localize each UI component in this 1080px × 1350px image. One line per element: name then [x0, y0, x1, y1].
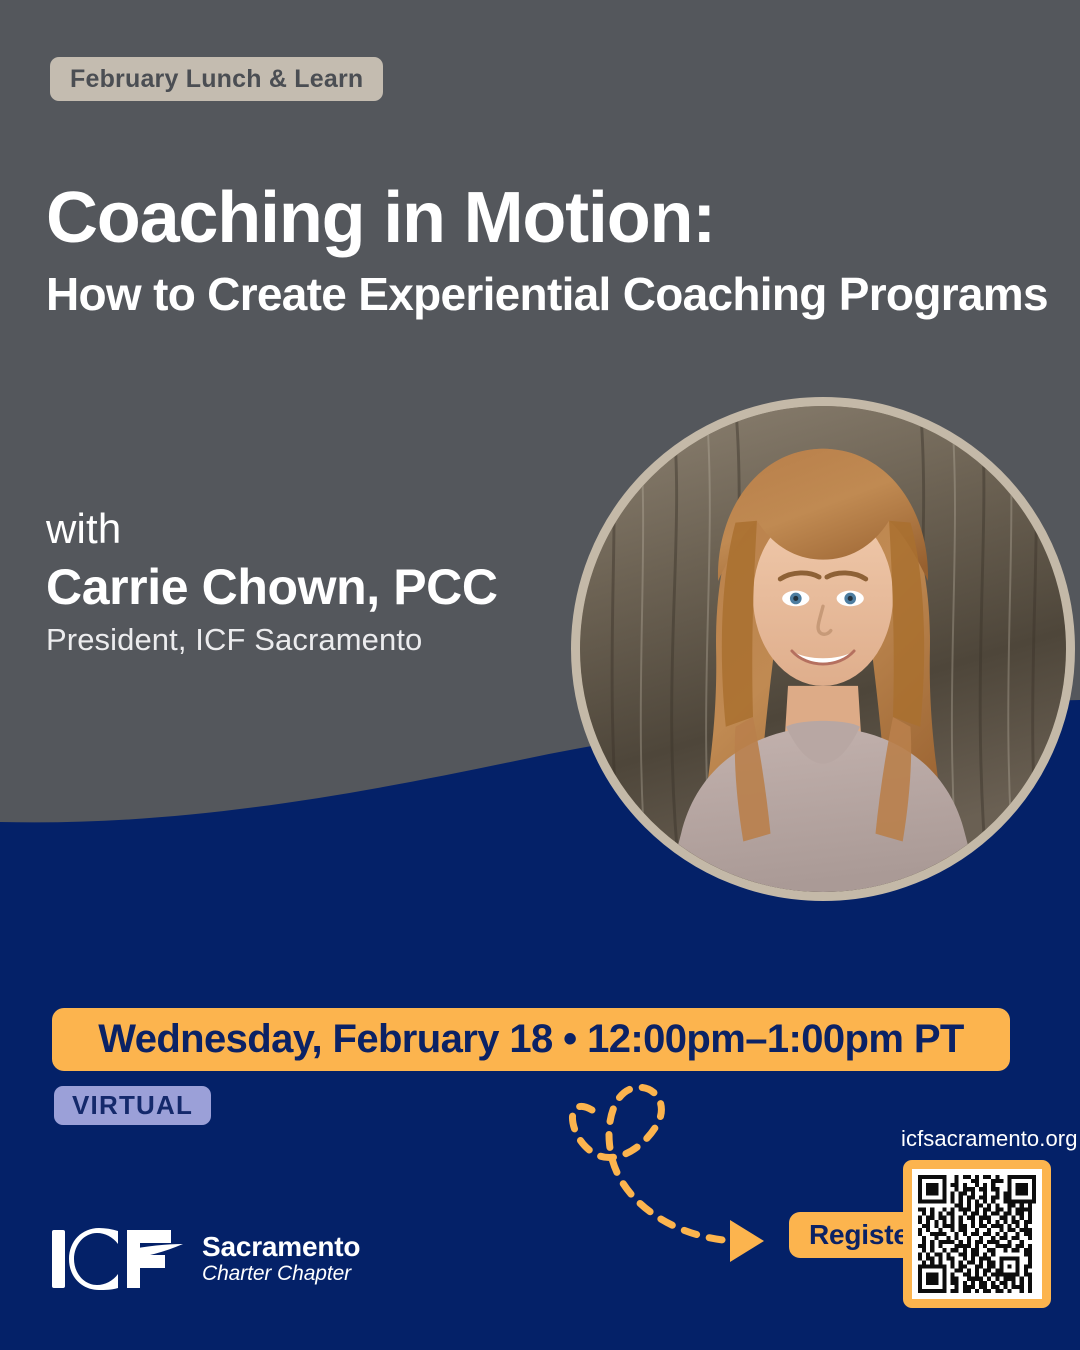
website-url: icfsacramento.org	[901, 1126, 1078, 1152]
speaker-name: Carrie Chown, PCC	[46, 558, 498, 616]
icf-logo-chapter: Charter Chapter	[202, 1262, 360, 1286]
speaker-role: President, ICF Sacramento	[46, 622, 422, 658]
icf-logo: Sacramento Charter Chapter	[52, 1228, 360, 1290]
event-flyer: February Lunch & Learn Coaching in Motio…	[0, 0, 1080, 1350]
qr-code-quiet-zone	[912, 1169, 1042, 1299]
qr-code[interactable]	[903, 1160, 1051, 1308]
curved-arrow-icon	[548, 1078, 798, 1273]
speaker-portrait-image	[580, 406, 1066, 892]
qr-code-icon	[918, 1175, 1036, 1293]
series-badge-label: February Lunch & Learn	[70, 65, 363, 94]
speaker-portrait	[571, 397, 1075, 901]
icf-logo-text: Sacramento Charter Chapter	[202, 1232, 360, 1286]
icf-mark-icon	[52, 1228, 183, 1290]
page-title: Coaching in Motion:	[46, 182, 715, 255]
event-datetime-bar: Wednesday, February 18 • 12:00pm–1:00pm …	[52, 1008, 1010, 1071]
page-subtitle: How to Create Experiential Coaching Prog…	[46, 270, 1048, 318]
event-format-badge: VIRTUAL	[54, 1086, 211, 1125]
event-format-label: VIRTUAL	[72, 1090, 193, 1121]
avatar	[580, 406, 1066, 892]
icf-logo-city: Sacramento	[202, 1232, 360, 1262]
speaker-with-label: with	[46, 505, 122, 553]
event-datetime-label: Wednesday, February 18 • 12:00pm–1:00pm …	[98, 1017, 963, 1062]
series-badge: February Lunch & Learn	[50, 57, 383, 101]
